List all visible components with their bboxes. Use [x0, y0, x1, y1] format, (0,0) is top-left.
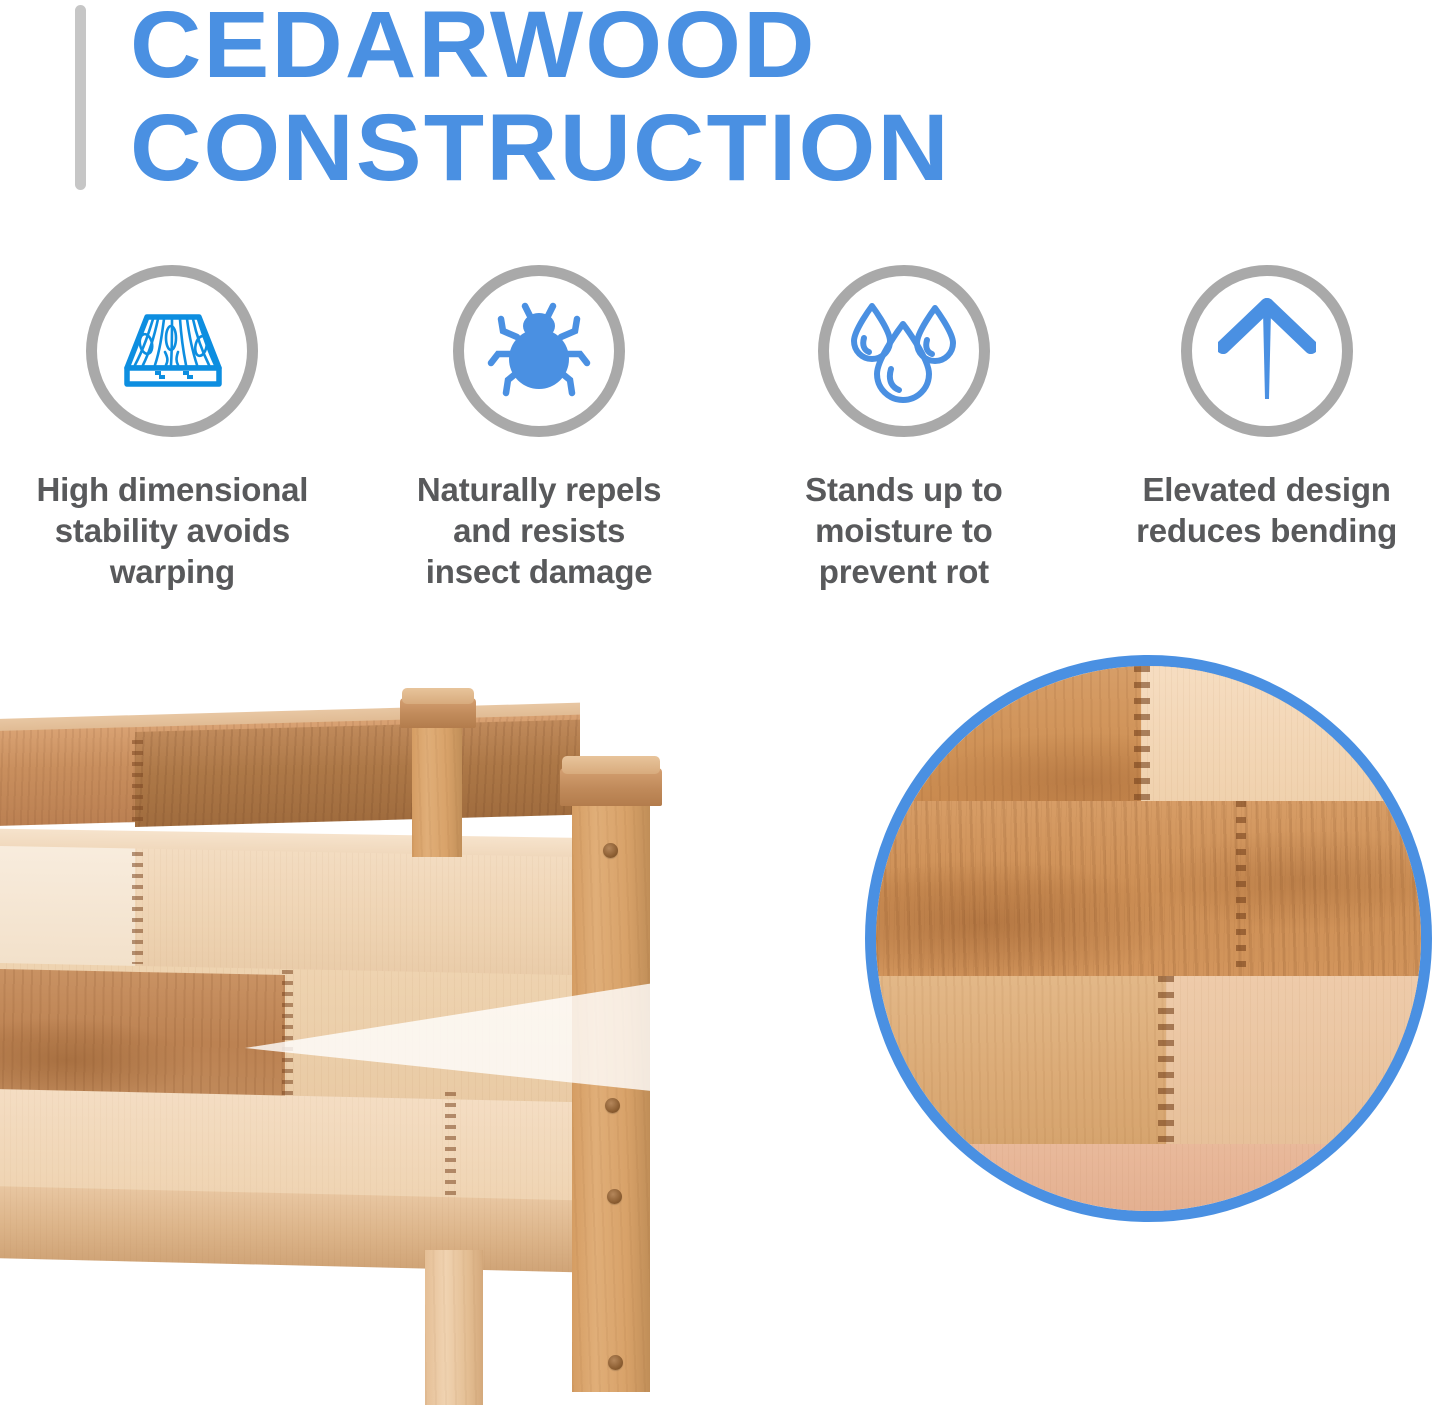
feature-caption-line: stability avoids — [55, 512, 290, 549]
feature-caption: High dimensional stability avoids warpin… — [7, 469, 337, 592]
water-droplets-icon — [848, 298, 960, 404]
product-photo-area — [0, 640, 1445, 1405]
magnified-detail-circle — [865, 655, 1432, 1222]
up-arrow-icon — [1218, 297, 1316, 405]
finger-joint-strip — [1236, 801, 1246, 976]
finger-joint-strip — [445, 1092, 456, 1204]
bug-insect-icon — [487, 301, 591, 401]
feature-caption-line: prevent rot — [819, 553, 989, 590]
page-title-line-1: CEDARWOOD — [130, 0, 1326, 97]
planter-screw — [605, 1098, 620, 1113]
header-accent-rule — [75, 5, 86, 190]
feature-icon-circle — [1181, 265, 1353, 437]
planter-screw — [607, 1189, 622, 1204]
page-title: CEDARWOOD CONSTRUCTION — [130, 0, 1326, 200]
feature-caption: Stands up to moisture to prevent rot — [739, 469, 1069, 592]
page-title-line-2: CONSTRUCTION — [130, 97, 1326, 200]
magnified-wood-grain — [876, 666, 1421, 1211]
wood-plank-grain-icon — [119, 308, 225, 394]
planter-screw — [608, 1355, 623, 1370]
planter-front-plank-mid-dark — [0, 968, 285, 1103]
feature-caption-line: and resists — [453, 512, 625, 549]
planter-back-rail-dark-plank — [135, 720, 580, 827]
wood-band — [876, 801, 1421, 976]
planter-screw — [603, 843, 618, 858]
feature-list: High dimensional stability avoids warpin… — [0, 265, 1445, 615]
wood-band — [876, 1144, 1421, 1222]
feature-caption-line: High dimensional — [36, 471, 308, 508]
planter-post-cap-top-back — [402, 688, 474, 704]
feature-caption: Elevated design reduces bending — [1097, 469, 1437, 551]
planter-corner-post-back — [412, 712, 462, 857]
wood-band-pale-right — [1166, 976, 1432, 1144]
feature-caption-line: reduces bending — [1136, 512, 1397, 549]
planter-post-cap-top-front — [562, 756, 660, 774]
feature-caption-line: Elevated design — [1142, 471, 1390, 508]
finger-joint-strip — [132, 740, 143, 822]
infographic-page: CEDARWOOD CONSTRUCTION — [0, 0, 1445, 1405]
product-image-planter — [0, 640, 680, 1405]
feature-item-moisture-resistance: Stands up to moisture to prevent rot — [726, 265, 1083, 615]
feature-caption-line: warping — [110, 553, 235, 590]
finger-joint-strip — [282, 970, 293, 1095]
feature-item-insect-resistance: Naturally repels and resists insect dama… — [361, 265, 718, 615]
feature-icon-circle — [818, 265, 990, 437]
finger-joint-strip — [1158, 976, 1174, 1144]
feature-icon-circle — [453, 265, 625, 437]
header: CEDARWOOD CONSTRUCTION — [0, 0, 1445, 210]
planter-leg-rear — [425, 1250, 483, 1405]
wood-band-pale-right — [1141, 666, 1432, 801]
feature-caption-line: moisture to — [815, 512, 992, 549]
feature-item-elevated-design: Elevated design reduces bending — [1088, 265, 1445, 615]
finger-joint-strip — [1134, 666, 1150, 801]
feature-caption-line: Naturally repels — [417, 471, 661, 508]
planter-front-plank-upper-pale — [0, 845, 135, 974]
finger-joint-strip — [132, 852, 143, 964]
feature-item-stability: High dimensional stability avoids warpin… — [0, 265, 351, 615]
planter-corner-post-front — [572, 792, 650, 1392]
feature-caption-line: insect damage — [426, 553, 653, 590]
feature-icon-circle — [86, 265, 258, 437]
feature-caption-line: Stands up to — [805, 471, 1002, 508]
feature-caption: Naturally repels and resists insect dama… — [374, 469, 704, 592]
